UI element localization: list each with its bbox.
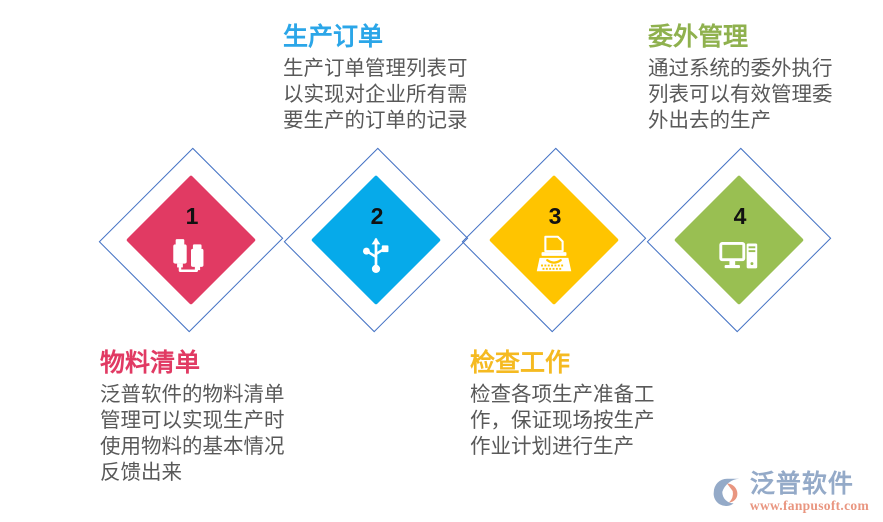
step-node-4[interactable]: 4 <box>644 142 834 338</box>
step-body-2: 生产订单管理列表可以实现对企业所有需要生产的订单的记录 <box>283 56 473 134</box>
watermark-logo: 泛普软件 www.fanpusoft.com <box>710 472 869 513</box>
step-body-3: 检查各项生产准备工作，保证现场按生产作业计划进行生产 <box>470 382 655 460</box>
step-number-3: 3 <box>549 205 562 228</box>
usb-cable-icon <box>168 232 214 276</box>
step-node-1[interactable]: 1 <box>96 142 286 338</box>
watermark-text-group: 泛普软件 www.fanpusoft.com <box>750 472 869 513</box>
fanpu-logo-icon <box>710 475 744 509</box>
step-label-2: 生产订单 生产订单管理列表可以实现对企业所有需要生产的订单的记录 <box>283 24 473 134</box>
infographic-canvas: 1 2 <box>0 0 883 522</box>
step-node-content-2: 2 <box>281 142 471 338</box>
step-body-4: 通过系统的委外执行列表可以有效管理委外出去的生产 <box>648 56 838 134</box>
step-label-4: 委外管理 通过系统的委外执行列表可以有效管理委外出去的生产 <box>648 24 838 134</box>
typewriter-icon <box>531 232 577 276</box>
step-title-3: 检查工作 <box>470 350 655 379</box>
step-body-1: 泛普软件的物料清单管理可以实现生产时使用物料的基本情况反馈出来 <box>100 382 296 486</box>
watermark-brand: 泛普软件 <box>750 472 869 497</box>
step-node-content-4: 4 <box>644 142 834 338</box>
step-node-3[interactable]: 3 <box>459 142 649 338</box>
step-number-2: 2 <box>371 205 384 228</box>
step-label-1: 物料清单 泛普软件的物料清单管理可以实现生产时使用物料的基本情况反馈出来 <box>100 350 296 486</box>
step-label-3: 检查工作 检查各项生产准备工作，保证现场按生产作业计划进行生产 <box>470 350 655 460</box>
usb-symbol-icon <box>353 232 399 276</box>
step-node-content-3: 3 <box>459 142 649 338</box>
step-title-1: 物料清单 <box>100 350 296 379</box>
desktop-computer-icon <box>716 232 762 276</box>
step-title-4: 委外管理 <box>648 24 838 53</box>
step-title-2: 生产订单 <box>283 24 473 53</box>
step-node-2[interactable]: 2 <box>281 142 471 338</box>
step-node-content-1: 1 <box>96 142 286 338</box>
step-number-4: 4 <box>734 205 747 228</box>
step-number-1: 1 <box>186 205 199 228</box>
watermark-url: www.fanpusoft.com <box>750 499 869 513</box>
